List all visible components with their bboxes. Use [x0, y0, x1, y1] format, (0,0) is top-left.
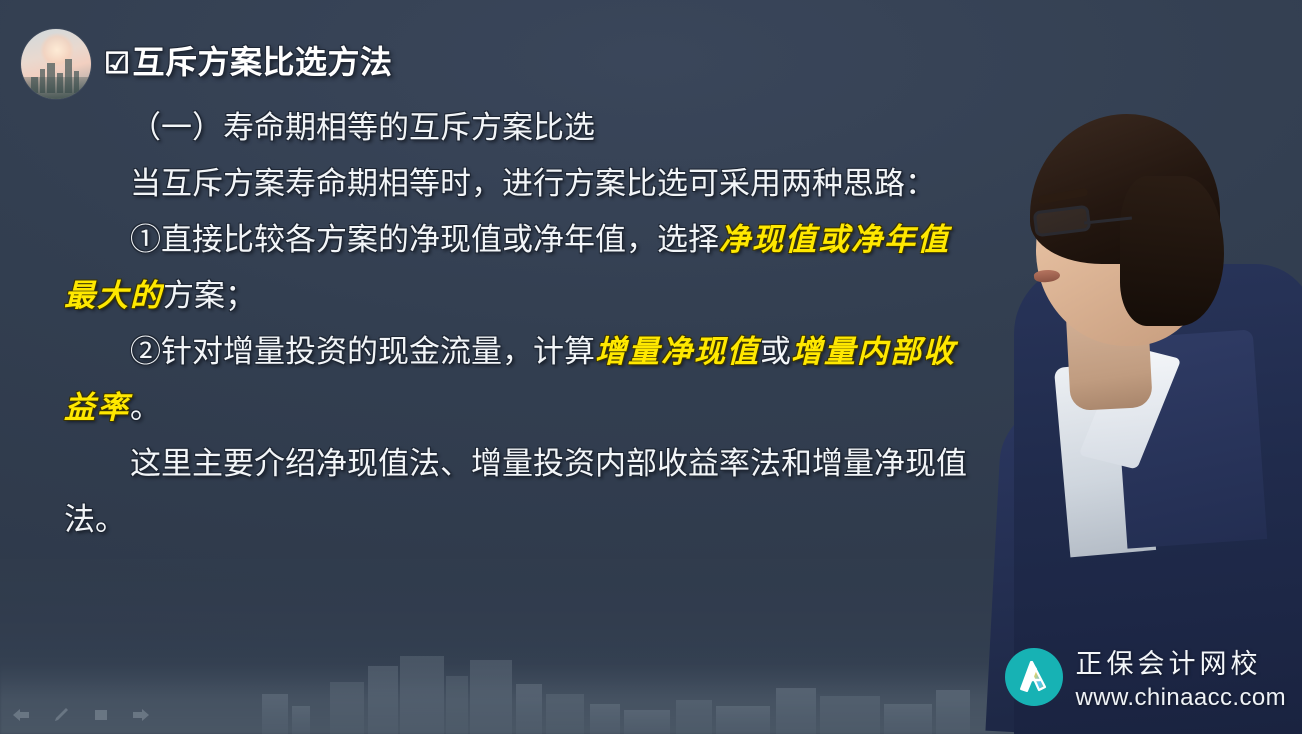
- text-run: 方案；: [163, 278, 256, 313]
- slide-stage: ☑互斥方案比选方法 （一）寿命期相等的互斥方案比选 当互斥方案寿命期相等时，进行…: [0, 0, 1302, 734]
- paragraph-item-1: ①直接比较各方案的净现值或净年值，选择净现值或净年值最大的方案；: [64, 212, 969, 324]
- text-run: ①直接比较各方案的净现值或净年值，选择: [130, 222, 719, 257]
- brand-name: 正保会计网校: [1076, 642, 1286, 681]
- lecturer-video-overlay: [972, 0, 1302, 734]
- checkbox-checked-icon: ☑: [104, 48, 131, 80]
- pen-annotate-icon[interactable]: [50, 704, 72, 726]
- page-title: ☑互斥方案比选方法: [104, 37, 393, 83]
- page-title-text: 互斥方案比选方法: [133, 44, 393, 80]
- previous-slide-icon[interactable]: [10, 704, 32, 726]
- brand-watermark: 正保会计网校 www.chinaacc.com: [1005, 642, 1286, 712]
- city-skyline-thumbnail: [21, 29, 91, 99]
- text-run: 。: [130, 390, 161, 425]
- text-run: 当互斥方案寿命期相等时，进行方案比选可采用两种思路：: [130, 166, 936, 201]
- player-controls[interactable]: [10, 704, 152, 726]
- slide-body: （一）寿命期相等的互斥方案比选 当互斥方案寿命期相等时，进行方案比选可采用两种思…: [64, 100, 969, 548]
- stop-icon[interactable]: [90, 704, 112, 726]
- highlighted-term: 增量净现值: [595, 334, 760, 369]
- paragraph-item-2: ②针对增量投资的现金流量，计算增量净现值或增量内部收益率。: [64, 324, 969, 436]
- text-run: ②针对增量投资的现金流量，计算: [130, 334, 595, 369]
- paragraph-intro: 当互斥方案寿命期相等时，进行方案比选可采用两种思路：: [64, 156, 969, 212]
- brand-url: www.chinaacc.com: [1076, 684, 1286, 712]
- text-run: 或: [760, 334, 791, 369]
- section-heading: （一）寿命期相等的互斥方案比选: [64, 100, 969, 156]
- book-logo-icon: [1005, 648, 1063, 706]
- text-run: 这里主要介绍净现值法、增量投资内部收益率法和增量净现值法。: [64, 446, 967, 537]
- next-slide-icon[interactable]: [130, 704, 152, 726]
- paragraph-outro: 这里主要介绍净现值法、增量投资内部收益率法和增量净现值法。: [64, 436, 969, 548]
